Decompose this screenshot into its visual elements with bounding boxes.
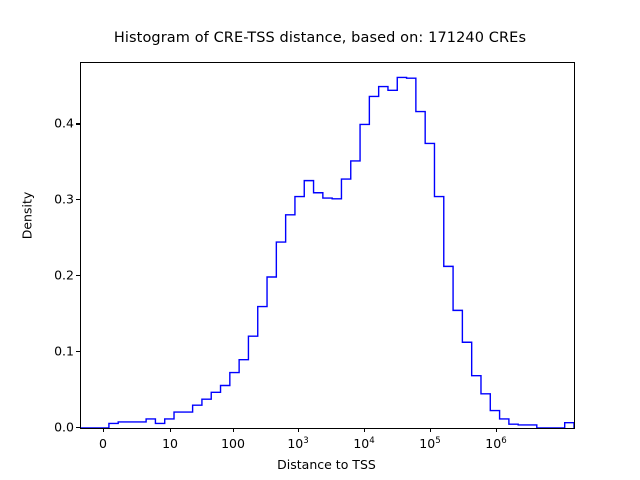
- x-tick-label: 103: [287, 436, 308, 451]
- x-tick-label: 104: [353, 436, 374, 451]
- x-axis-title: Distance to TSS: [80, 457, 573, 472]
- histogram-density-curve: [81, 77, 574, 428]
- matplotlib-figure: Histogram of CRE-TSS distance, based on:…: [0, 0, 640, 480]
- y-axis-tick-labels: 0.00.10.20.30.4: [24, 62, 74, 427]
- chart-title: Histogram of CRE-TSS distance, based on:…: [0, 30, 640, 46]
- y-tick-label: 0.3: [30, 192, 74, 207]
- x-tick-label: 100: [221, 436, 245, 451]
- y-tick-label: 0.4: [30, 116, 74, 131]
- y-tick-label: 0.0: [30, 420, 74, 435]
- y-tick-label: 0.1: [30, 344, 74, 359]
- x-tick-label: 10: [162, 436, 178, 451]
- x-tick-label: 0: [99, 436, 107, 451]
- histogram-step-outline: [81, 63, 574, 428]
- x-tick-label: 105: [419, 436, 440, 451]
- plot-area: [80, 62, 575, 429]
- x-tick-label: 106: [485, 436, 506, 451]
- y-tick-label: 0.2: [30, 268, 74, 283]
